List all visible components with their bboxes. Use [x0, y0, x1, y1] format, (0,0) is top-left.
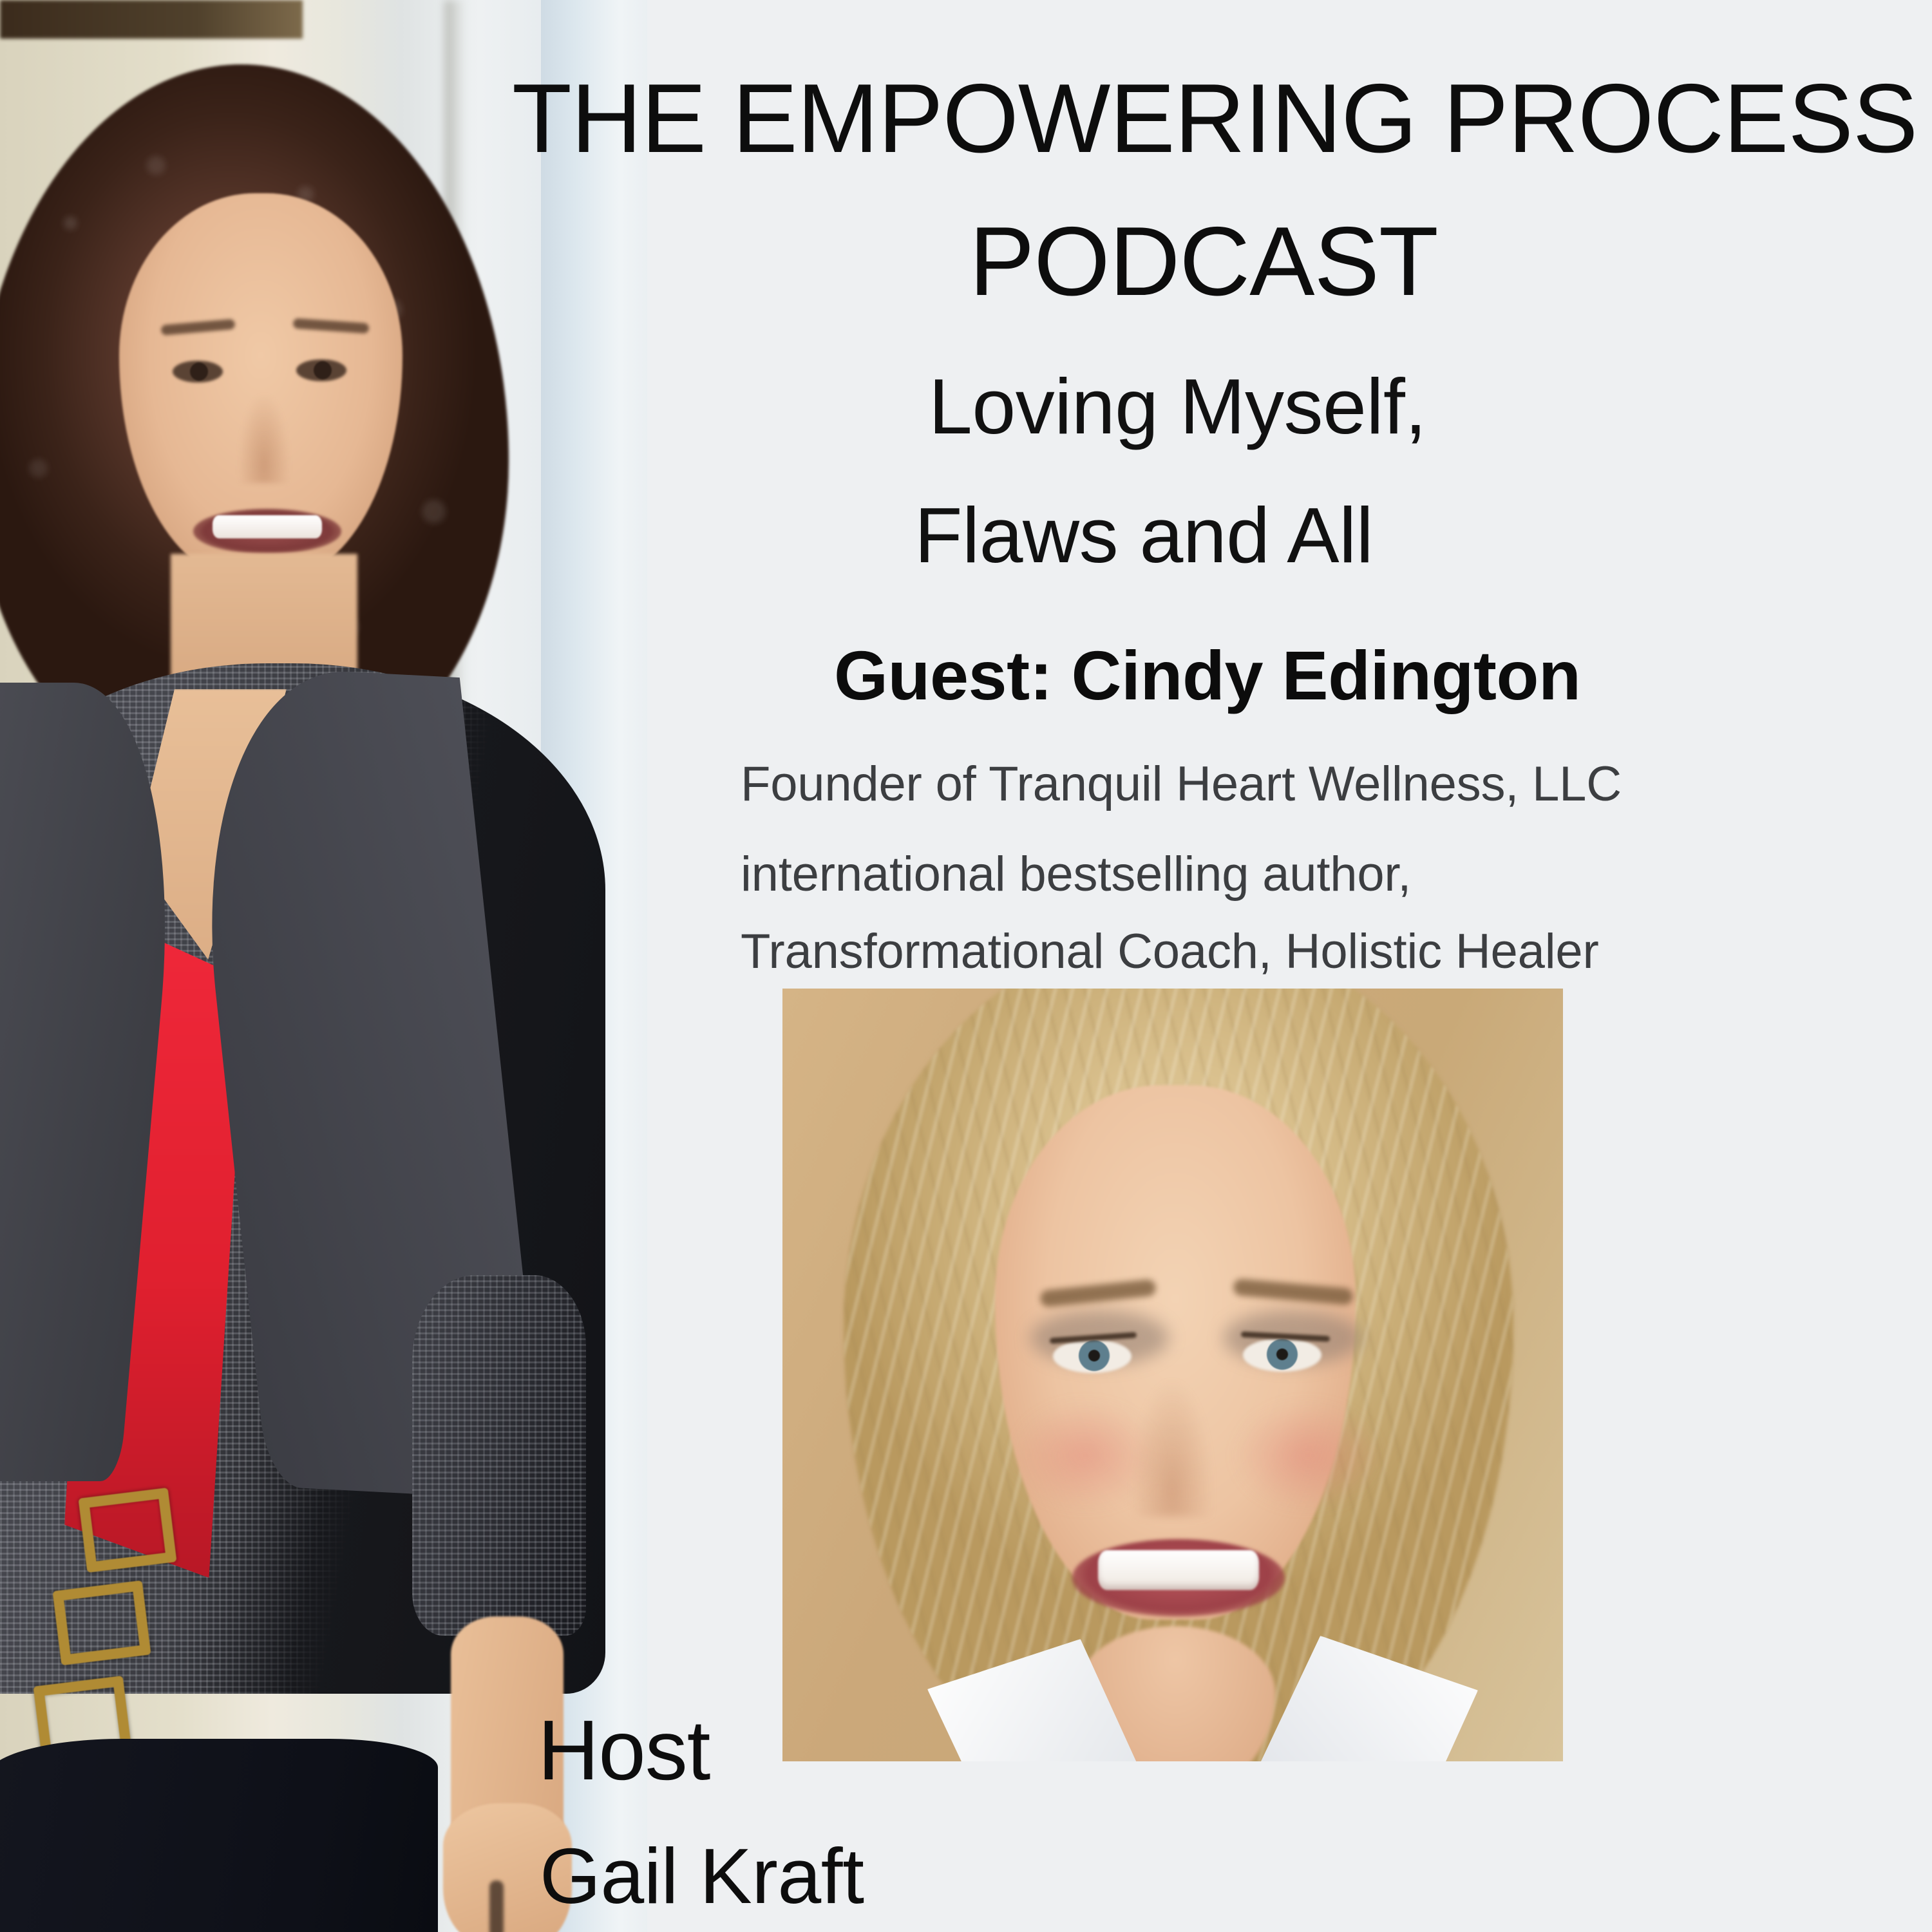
host-photo: [0, 0, 647, 1932]
episode-title-line-2: Flaws and All: [914, 496, 1373, 574]
host-jacket-sleeve-texture: [412, 1275, 586, 1636]
host-pupil-left: [190, 363, 208, 381]
podcast-cover-art: THE EMPOWERING PROCESS PODCAST Loving My…: [0, 0, 1932, 1932]
guest-teeth: [1098, 1550, 1259, 1590]
guest-photo: [782, 989, 1563, 1761]
guest-iris-right: [1267, 1339, 1298, 1370]
podcast-title-line-2: PODCAST: [969, 213, 1438, 310]
podcast-title-line-1: THE EMPOWERING PROCESS: [512, 70, 1917, 167]
guest-cheek-right: [1233, 1401, 1381, 1510]
host-finger-gap: [489, 1880, 504, 1932]
episode-title-line-1: Loving Myself,: [929, 367, 1426, 446]
host-teeth: [213, 515, 322, 538]
guest-credentials-line-2: international bestselling author,: [741, 850, 1411, 899]
guest-name-label: Guest: Cindy Edington: [834, 641, 1580, 710]
host-pupil-right: [314, 361, 332, 379]
guest-iris-left: [1079, 1340, 1110, 1371]
guest-nose: [1130, 1375, 1214, 1517]
guest-credentials-line-3: Transformational Coach, Holistic Healer: [741, 927, 1599, 976]
host-photo-top-band: [0, 0, 303, 39]
guest-credentials-line-1: Founder of Tranquil Heart Wellness, LLC: [741, 760, 1622, 809]
host-name-label: Gail Kraft: [540, 1837, 864, 1915]
host-trousers: [0, 1739, 438, 1932]
host-belt-buckle-middle: [52, 1580, 151, 1665]
host-role-label: Host: [538, 1708, 710, 1793]
host-nose: [238, 393, 290, 483]
host-belt-buckle-top: [78, 1488, 176, 1573]
